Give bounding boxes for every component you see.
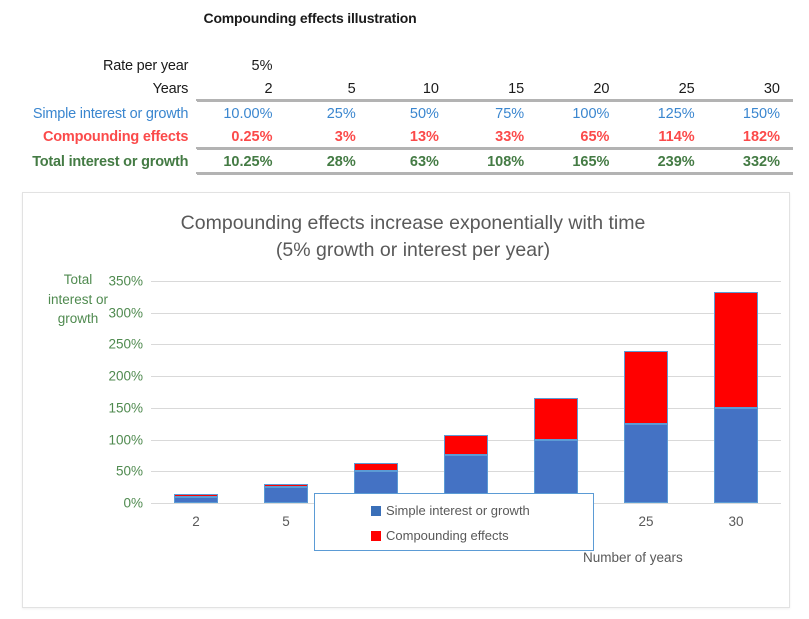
cell-years-3: 15 <box>452 77 537 101</box>
legend-item-simple-interest[interactable]: Simple interest or growth <box>371 503 530 518</box>
y-axis-tick-label: 300% <box>83 305 143 320</box>
cell-simple-0: 10.00% <box>197 101 285 125</box>
cell-simple-3: 75% <box>452 101 537 125</box>
table-rule <box>196 172 793 174</box>
chart-card: Compounding effects increase exponential… <box>22 192 790 608</box>
cell-years-6: 30 <box>708 77 793 101</box>
cell-total-0: 10.25% <box>197 149 285 174</box>
chart-title: Compounding effects increase exponential… <box>93 210 733 264</box>
bar-segment-simple-interest[interactable] <box>174 497 218 503</box>
x-axis-tick-label: 25 <box>624 514 668 529</box>
bar-segment-compounding-effects[interactable] <box>534 398 578 439</box>
bar-segment-simple-interest[interactable] <box>714 408 758 503</box>
legend-label-0: Simple interest or growth <box>386 503 530 518</box>
row-label-total: Total interest or growth <box>0 149 197 174</box>
row-label-simple-interest: Simple interest or growth <box>0 101 197 125</box>
bar-segment-compounding-effects[interactable] <box>624 351 668 423</box>
cell-years-1: 5 <box>286 77 369 101</box>
data-table: Rate per year 5% Years 2 5 10 15 20 25 3… <box>0 54 793 175</box>
cell-total-5: 239% <box>622 149 707 174</box>
bar-group[interactable]: 2 <box>174 281 218 503</box>
table-row: Rate per year 5% <box>0 54 793 77</box>
cell-comp-3: 33% <box>452 125 537 149</box>
y-axis-tick-label: 50% <box>83 464 143 479</box>
plot-area: 0%50%100%150%200%250%300%350%25101520253… <box>151 281 781 503</box>
legend-swatch-icon-red <box>371 531 381 541</box>
cell-rate-0: 5% <box>197 54 285 77</box>
table-row: Simple interest or growth 10.00% 25% 50%… <box>0 101 793 125</box>
page-title: Compounding effects illustration <box>0 10 620 26</box>
cell-rate-2 <box>369 54 452 77</box>
bar-segment-simple-interest[interactable] <box>624 424 668 503</box>
cell-total-4: 165% <box>537 149 622 174</box>
table-row: Total interest or growth 10.25% 28% 63% … <box>0 149 793 174</box>
cell-years-4: 20 <box>537 77 622 101</box>
cell-simple-1: 25% <box>286 101 369 125</box>
bar-segment-compounding-effects[interactable] <box>714 292 758 407</box>
chart-legend[interactable]: Simple interest or growth Compounding ef… <box>314 493 594 551</box>
bar-segment-compounding-effects[interactable] <box>444 435 488 456</box>
cell-comp-0: 0.25% <box>197 125 285 149</box>
table-row: Years 2 5 10 15 20 25 30 <box>0 77 793 101</box>
table-body: Rate per year 5% Years 2 5 10 15 20 25 3… <box>0 54 793 174</box>
table-row: Compounding effects 0.25% 3% 13% 33% 65%… <box>0 125 793 149</box>
bar-group[interactable]: 25 <box>624 281 668 503</box>
y-axis-tick-label: 250% <box>83 337 143 352</box>
chart-title-line-1: Compounding effects increase exponential… <box>181 212 646 234</box>
cell-total-1: 28% <box>286 149 369 174</box>
legend-item-compounding-effects[interactable]: Compounding effects <box>371 528 509 543</box>
legend-label-1: Compounding effects <box>386 528 509 543</box>
cell-total-3: 108% <box>452 149 537 174</box>
row-label-years: Years <box>0 77 197 101</box>
bar-group[interactable]: 15 <box>444 281 488 503</box>
chart-title-line-2: (5% growth or interest per year) <box>93 237 733 264</box>
bar-group[interactable]: 10 <box>354 281 398 503</box>
y-axis-tick-label: 100% <box>83 432 143 447</box>
bar-group[interactable]: 30 <box>714 281 758 503</box>
cell-rate-5 <box>622 54 707 77</box>
bar-segment-compounding-effects[interactable] <box>264 484 308 487</box>
x-axis-tick-label: 5 <box>264 514 308 529</box>
legend-swatch-icon-blue <box>371 506 381 516</box>
cell-rate-6 <box>708 54 793 77</box>
x-axis-title: Number of years <box>583 550 683 565</box>
cell-total-2: 63% <box>369 149 452 174</box>
table-rule <box>196 147 793 149</box>
cell-years-2: 10 <box>369 77 452 101</box>
cell-comp-4: 65% <box>537 125 622 149</box>
cell-rate-4 <box>537 54 622 77</box>
bar-segment-simple-interest[interactable] <box>264 487 308 503</box>
cell-simple-5: 125% <box>622 101 707 125</box>
cell-simple-2: 50% <box>369 101 452 125</box>
cell-comp-6: 182% <box>708 125 793 149</box>
cell-comp-1: 3% <box>286 125 369 149</box>
cell-comp-5: 114% <box>622 125 707 149</box>
cell-simple-6: 150% <box>708 101 793 125</box>
cell-simple-4: 100% <box>537 101 622 125</box>
cell-years-5: 25 <box>622 77 707 101</box>
y-axis-tick-label: 0% <box>83 496 143 511</box>
x-axis-tick-label: 30 <box>714 514 758 529</box>
cell-years-0: 2 <box>197 77 285 101</box>
cell-total-6: 332% <box>708 149 793 174</box>
bar-group[interactable]: 20 <box>534 281 578 503</box>
y-axis-tick-label: 200% <box>83 369 143 384</box>
cell-comp-2: 13% <box>369 125 452 149</box>
y-axis-tick-label: 150% <box>83 400 143 415</box>
bar-group[interactable]: 5 <box>264 281 308 503</box>
y-axis-tick-label: 350% <box>83 274 143 289</box>
cell-rate-3 <box>452 54 537 77</box>
cell-rate-1 <box>286 54 369 77</box>
table-rule <box>196 99 793 101</box>
bar-segment-compounding-effects[interactable] <box>174 494 218 497</box>
row-label-rate: Rate per year <box>0 54 197 77</box>
row-label-compounding: Compounding effects <box>0 125 197 149</box>
bar-segment-compounding-effects[interactable] <box>354 463 398 471</box>
x-axis-tick-label: 2 <box>174 514 218 529</box>
